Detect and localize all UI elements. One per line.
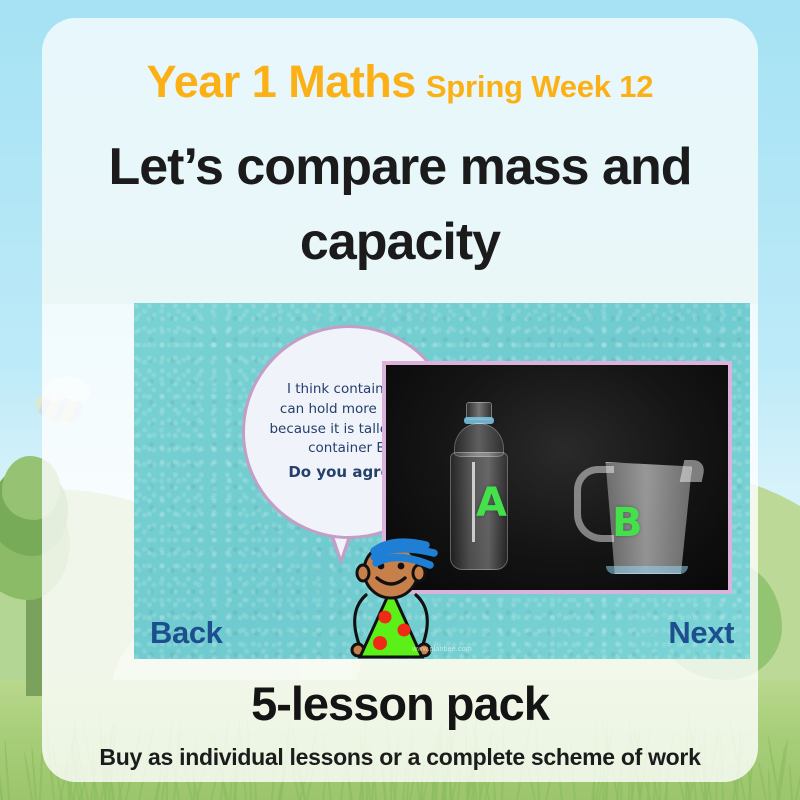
product-card: Year 1 MathsSpring Week 12 Let’s compare… (42, 18, 758, 782)
photo-label-a: A (476, 480, 507, 526)
next-button[interactable]: Next (668, 615, 734, 651)
back-button[interactable]: Back (150, 615, 223, 651)
header-row: Year 1 MathsSpring Week 12 (42, 56, 758, 108)
photo-label-b: B (612, 500, 643, 546)
page-title: Let’s compare mass and capacity (94, 130, 706, 280)
pack-title: 5-lesson pack (42, 676, 758, 731)
week-label: Spring Week 12 (426, 69, 654, 104)
bubble-line-4: container B. (308, 440, 390, 456)
watermark-text: www.planbee.com (412, 646, 472, 653)
year-subject-label: Year 1 Maths (147, 56, 416, 107)
lesson-slide-preview[interactable]: I think container A can hold more liquid… (134, 303, 750, 659)
bottle-glint (472, 462, 475, 542)
child-character-icon (330, 535, 452, 659)
pack-subtitle: Buy as individual lessons or a complete … (42, 744, 758, 771)
